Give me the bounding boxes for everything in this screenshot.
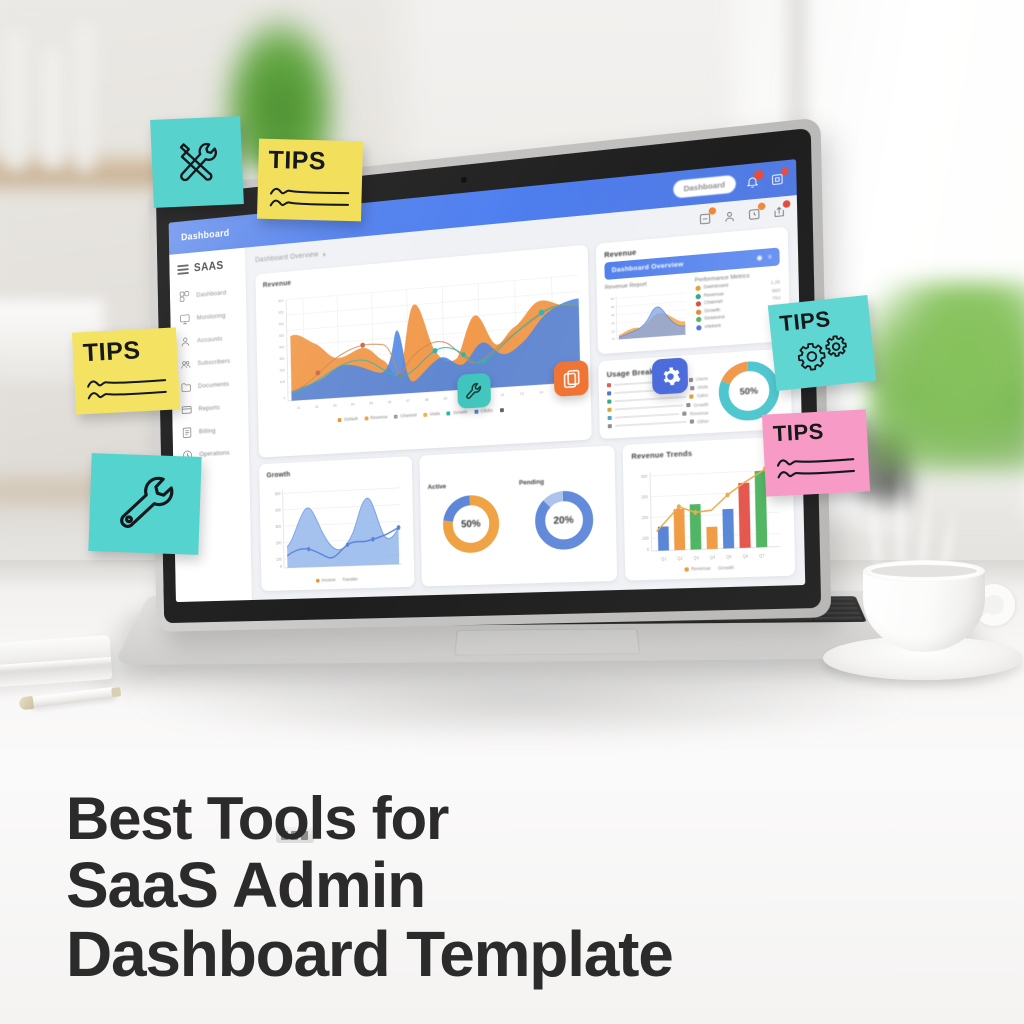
sticky-note-wrench[interactable]	[88, 453, 201, 555]
svg-text:Q6: Q6	[743, 553, 749, 559]
folder-icon	[180, 380, 192, 393]
user-icon	[180, 335, 192, 348]
bell-icon[interactable]	[744, 173, 760, 190]
svg-text:09: 09	[444, 396, 448, 400]
notification-icon[interactable]	[746, 206, 763, 223]
copy-icon[interactable]	[554, 360, 589, 397]
hamburger-menu-icon[interactable]	[177, 264, 189, 275]
svg-text:Q7: Q7	[759, 552, 765, 558]
duo-donut-left[interactable]: 50%	[439, 491, 503, 557]
svg-text:06: 06	[388, 400, 392, 404]
sidebar-item-label: Accounts	[197, 335, 222, 344]
sidebar-item-label: Dashboard	[196, 289, 226, 298]
note-title: TIPS	[772, 421, 824, 446]
dashboard-screen[interactable]: Dashboard Dashboard	[169, 159, 806, 602]
share-badge	[783, 200, 791, 208]
dashboard-content: Dashboard Overview	[245, 195, 805, 600]
svg-text:100: 100	[276, 556, 282, 562]
dashboard-right-column: Revenue Dashboard Overview ◉ ≡	[596, 227, 792, 439]
legend-item: Growth	[718, 565, 734, 571]
svg-text:05: 05	[369, 401, 373, 405]
note-title: TIPS	[82, 338, 141, 366]
svg-text:03: 03	[333, 404, 337, 408]
svg-text:100: 100	[280, 380, 285, 384]
headline-line-1: Best Tools for	[66, 787, 673, 851]
legend-item: Default	[338, 416, 358, 422]
svg-text:0: 0	[647, 546, 650, 552]
note-title: TIPS	[779, 308, 832, 335]
dashboard-row-bottom: Growth	[259, 436, 795, 591]
card-icon	[181, 403, 193, 416]
eye-icon[interactable]: ◉	[757, 254, 763, 262]
svg-text:08: 08	[425, 398, 429, 402]
svg-text:400: 400	[641, 473, 648, 479]
monitor-lid: Dashboard Dashboard	[148, 117, 831, 632]
svg-text:12: 12	[501, 393, 505, 397]
cup-rim	[863, 560, 985, 582]
svg-text:04: 04	[351, 402, 355, 406]
svg-text:200: 200	[279, 368, 284, 372]
sidebar-item-label: Monitoring	[197, 312, 226, 321]
squiggle-lines-icon	[84, 369, 170, 407]
apps-icon[interactable]	[769, 170, 786, 187]
svg-text:400: 400	[279, 345, 284, 349]
sticky-note-tips-1[interactable]: TIPS	[257, 139, 363, 222]
legend-item	[499, 407, 503, 412]
grid-icon	[179, 289, 191, 302]
app-title: Dashboard	[181, 228, 230, 243]
donut-center-label: 20%	[531, 486, 597, 554]
legend-item: Transfer	[342, 577, 358, 582]
coffee-cup	[845, 540, 1024, 685]
svg-text:02: 02	[315, 405, 319, 409]
svg-text:450: 450	[279, 334, 284, 338]
svg-text:0: 0	[284, 396, 286, 400]
wrench-icon[interactable]	[457, 373, 491, 409]
sticky-note-tips-2[interactable]: TIPS	[72, 327, 180, 414]
svg-text:60: 60	[611, 296, 615, 301]
growth-card: Growth	[259, 456, 414, 591]
panel-header-title: Dashboard Overview	[612, 255, 752, 274]
legend-item: Growth	[447, 409, 468, 415]
sticky-note-tips-3[interactable]: TIPS	[768, 295, 876, 391]
duo-donut-card: Active 50%	[419, 445, 617, 586]
main-chart-card: Revenue	[255, 245, 591, 458]
svg-text:01: 01	[297, 406, 301, 410]
svg-text:300: 300	[275, 523, 281, 529]
svg-text:10: 10	[612, 336, 616, 341]
notification-badge	[758, 202, 766, 210]
sticky-note-tools[interactable]	[150, 116, 244, 208]
legend-item: Channel	[394, 412, 417, 418]
gears-icon	[781, 330, 865, 376]
sidebar-item-label: Operations	[199, 449, 229, 457]
revenue-panel-card: Revenue Dashboard Overview ◉ ≡	[596, 227, 790, 355]
headline-line-2: SaaS Admin	[66, 851, 673, 919]
topbar-pill-button[interactable]: Dashboard	[673, 174, 736, 198]
legend-item: Clicks	[474, 408, 492, 414]
growth-area-chart[interactable]: 500400300 2001000	[267, 475, 407, 577]
compose-icon[interactable]	[697, 210, 713, 227]
people-icon	[180, 358, 192, 371]
legend-item: Revenue	[684, 566, 710, 572]
wrench-icon	[99, 462, 192, 545]
sidebar-item-label: Subscribers	[197, 357, 230, 366]
revenue-report-mini: Revenue Report	[605, 278, 689, 346]
breadcrumb[interactable]: Dashboard Overview	[255, 251, 326, 264]
poster-scene: Dashboard Dashboard	[0, 0, 1024, 1024]
donut-center-label: 50%	[439, 491, 503, 557]
svg-text:Q4: Q4	[710, 554, 716, 560]
svg-text:50: 50	[611, 305, 615, 310]
compose-badge	[709, 207, 717, 215]
gear-icon[interactable]	[652, 357, 688, 395]
svg-text:200: 200	[276, 540, 282, 546]
squiggle-lines-icon	[267, 180, 352, 216]
chevron-right-icon	[323, 252, 326, 256]
revenue-bar-chart[interactable]: 400300 2001000	[632, 456, 787, 565]
headline: Best Tools for SaaS Admin Dashboard Temp…	[66, 787, 673, 988]
svg-text:20: 20	[611, 329, 615, 334]
monitor-icon	[179, 312, 191, 325]
squiggle-lines-icon	[774, 448, 860, 486]
notification-badge	[754, 169, 764, 179]
svg-text:Q1: Q1	[661, 555, 667, 561]
svg-text:Q2: Q2	[678, 555, 684, 561]
main-area-chart[interactable]: 600 550 500 450 400 300 200 100	[263, 265, 583, 419]
svg-text:550: 550	[278, 310, 283, 315]
panel-mini-area[interactable]: 605040 302010	[605, 287, 689, 347]
svg-text:300: 300	[641, 494, 648, 500]
svg-text:100: 100	[642, 535, 649, 541]
sidebar-item-label: Billing	[199, 427, 216, 435]
duo-donut-right[interactable]: 20%	[531, 486, 597, 554]
svg-text:14: 14	[539, 390, 543, 395]
trackpad[interactable]	[454, 629, 640, 656]
brand-label: SAAS	[194, 260, 224, 274]
svg-text:Q5: Q5	[726, 553, 732, 559]
legend-item: Visits	[423, 411, 440, 417]
svg-text:07: 07	[406, 399, 410, 403]
headline-line-3: Dashboard Template	[66, 920, 673, 988]
svg-text:40: 40	[611, 313, 615, 318]
sticky-note-tips-4[interactable]: TIPS	[762, 409, 870, 496]
card-title: Active	[428, 483, 447, 491]
webcam	[461, 177, 467, 184]
legend-item: Revenue	[364, 414, 387, 420]
more-icon[interactable]: ≡	[768, 254, 772, 261]
tools-icon	[161, 126, 234, 199]
apps-badge	[781, 167, 789, 175]
svg-text:300: 300	[279, 357, 284, 361]
svg-text:500: 500	[279, 322, 284, 326]
duo-donut-right-cell: Pending 20%	[519, 476, 609, 555]
sidebar-item-label: Reports	[198, 404, 220, 412]
sidebar-item-label: Documents	[198, 380, 229, 389]
duo-donut-left-cell: Active 50%	[428, 480, 515, 557]
breadcrumb-label: Dashboard Overview	[255, 251, 319, 264]
svg-text:200: 200	[642, 514, 649, 520]
svg-text:13: 13	[520, 392, 524, 397]
svg-text:500: 500	[275, 491, 281, 497]
svg-text:Q3: Q3	[694, 554, 700, 560]
svg-text:400: 400	[275, 507, 281, 513]
svg-text:30: 30	[611, 321, 615, 326]
invoice-icon	[181, 426, 193, 439]
dashboard-row-top: Revenue	[255, 227, 792, 458]
legend-item: Income	[316, 577, 336, 582]
svg-text:0: 0	[280, 564, 283, 570]
user-icon[interactable]	[721, 208, 737, 225]
note-title: TIPS	[268, 148, 326, 174]
svg-text:600: 600	[278, 299, 283, 304]
share-icon[interactable]	[771, 203, 788, 220]
card-title: Pending	[519, 479, 544, 487]
